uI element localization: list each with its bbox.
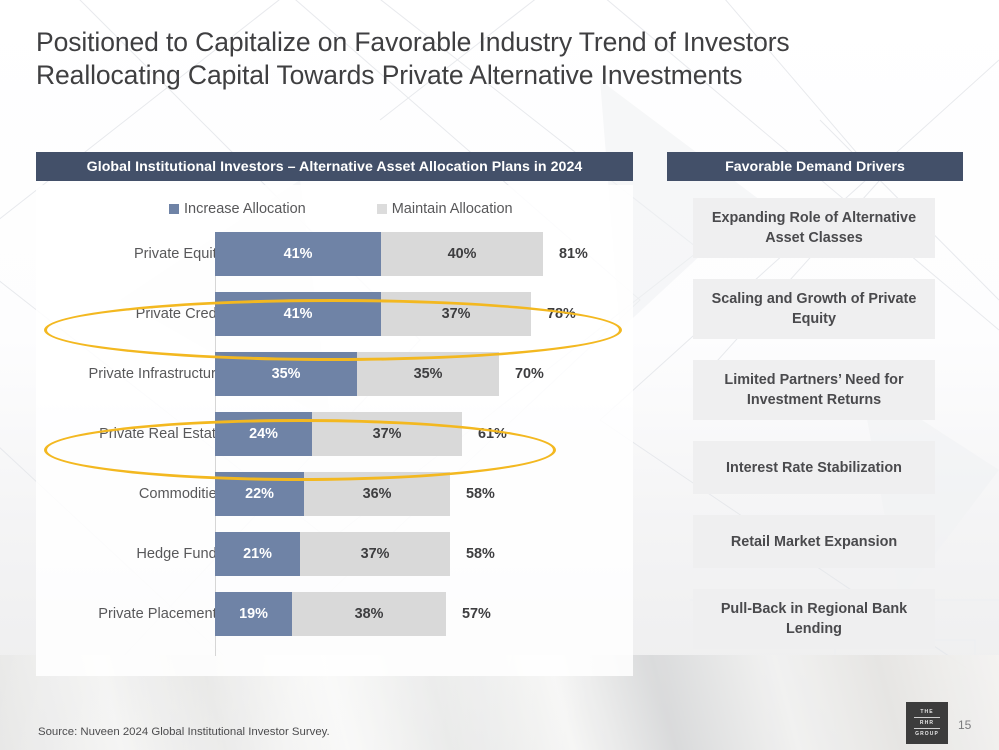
drivers-panel-header: Favorable Demand Drivers — [667, 152, 963, 181]
bar-row: Hedge Funds 21% 37% 58% — [36, 532, 633, 576]
driver-card-6: Pull-Back in Regional Bank Lending — [693, 589, 935, 649]
source-note: Source: Nuveen 2024 Global Institutional… — [38, 726, 330, 738]
bar-row: Private Credit 41% 37% 78% — [36, 292, 633, 336]
bar-segment-increase: 35% — [215, 352, 357, 396]
drivers-list: Expanding Role of Alternative Asset Clas… — [693, 198, 935, 670]
bar-category-label: Commodities — [139, 472, 224, 516]
legend-swatch-maintain — [377, 204, 387, 214]
bar-segment-increase: 22% — [215, 472, 304, 516]
driver-card-5-label: Retail Market Expansion — [731, 532, 897, 552]
bar-total-label: 57% — [462, 592, 491, 636]
legend-item-increase: Increase Allocation — [169, 201, 306, 217]
logo-line-group: GROUP — [915, 730, 939, 738]
bar-segment-maintain: 35% — [357, 352, 499, 396]
bar-segment-maintain: 38% — [292, 592, 446, 636]
driver-card-4-label: Interest Rate Stabilization — [726, 458, 902, 478]
driver-card-1-label: Expanding Role of Alternative Asset Clas… — [703, 208, 925, 248]
bar-total-label: 58% — [466, 472, 495, 516]
bar-segment-increase: 41% — [215, 232, 381, 276]
driver-card-2-label: Scaling and Growth of Private Equity — [703, 289, 925, 329]
page-title: Positioned to Capitalize on Favorable In… — [36, 26, 896, 92]
logo-line-rhr: RHR — [920, 719, 934, 727]
bar-category-label: Private Real Estate — [99, 412, 224, 456]
driver-card-5: Retail Market Expansion — [693, 515, 935, 568]
driver-card-3: Limited Partners’ Need for Investment Re… — [693, 360, 935, 420]
bar-row: Private Placements 19% 38% 57% — [36, 592, 633, 636]
chart-legend: Increase Allocation Maintain Allocation — [36, 196, 633, 222]
bar-row: Private Real Estate 24% 37% 61% — [36, 412, 633, 456]
bar-total-label: 70% — [515, 352, 544, 396]
bar-segment-maintain: 37% — [300, 532, 450, 576]
driver-card-3-label: Limited Partners’ Need for Investment Re… — [703, 370, 925, 410]
bar-total-label: 78% — [547, 292, 576, 336]
logo-rule-top — [914, 717, 940, 718]
stacked-bar-chart: Private Equity 41% 40% 81% Private Credi… — [36, 232, 633, 660]
driver-card-4: Interest Rate Stabilization — [693, 441, 935, 494]
bar-segment-increase: 24% — [215, 412, 312, 456]
bar-total-label: 58% — [466, 532, 495, 576]
bar-segment-maintain: 37% — [381, 292, 531, 336]
driver-card-6-label: Pull-Back in Regional Bank Lending — [703, 599, 925, 639]
bar-category-label: Private Placements — [98, 592, 224, 636]
bar-segment-increase: 41% — [215, 292, 381, 336]
page-number: 15 — [958, 718, 971, 732]
bar-segment-maintain: 37% — [312, 412, 462, 456]
bar-total-label: 61% — [478, 412, 507, 456]
logo-line-the: THE — [920, 708, 933, 716]
bar-segment-increase: 19% — [215, 592, 292, 636]
bar-segment-maintain: 36% — [304, 472, 450, 516]
driver-card-2: Scaling and Growth of Private Equity — [693, 279, 935, 339]
driver-card-1: Expanding Role of Alternative Asset Clas… — [693, 198, 935, 258]
bar-segment-maintain: 40% — [381, 232, 543, 276]
bar-category-label: Private Credit — [136, 292, 224, 336]
logo-rule-bottom — [914, 728, 940, 729]
legend-swatch-increase — [169, 204, 179, 214]
bar-category-label: Private Equity — [134, 232, 224, 276]
bar-total-label: 81% — [559, 232, 588, 276]
chart-panel-header-label: Global Institutional Investors – Alterna… — [87, 159, 583, 175]
bar-row: Private Infrastructure 35% 35% 70% — [36, 352, 633, 396]
company-logo: THE RHR GROUP — [906, 702, 948, 744]
chart-panel-header: Global Institutional Investors – Alterna… — [36, 152, 633, 181]
legend-item-maintain: Maintain Allocation — [377, 201, 513, 217]
bar-row: Commodities 22% 36% 58% — [36, 472, 633, 516]
bar-category-label: Private Infrastructure — [89, 352, 224, 396]
drivers-panel-header-label: Favorable Demand Drivers — [725, 159, 905, 175]
bar-segment-increase: 21% — [215, 532, 300, 576]
legend-label-maintain: Maintain Allocation — [392, 201, 513, 217]
legend-label-increase: Increase Allocation — [184, 201, 306, 217]
bar-row: Private Equity 41% 40% 81% — [36, 232, 633, 276]
bar-category-label: Hedge Funds — [136, 532, 224, 576]
